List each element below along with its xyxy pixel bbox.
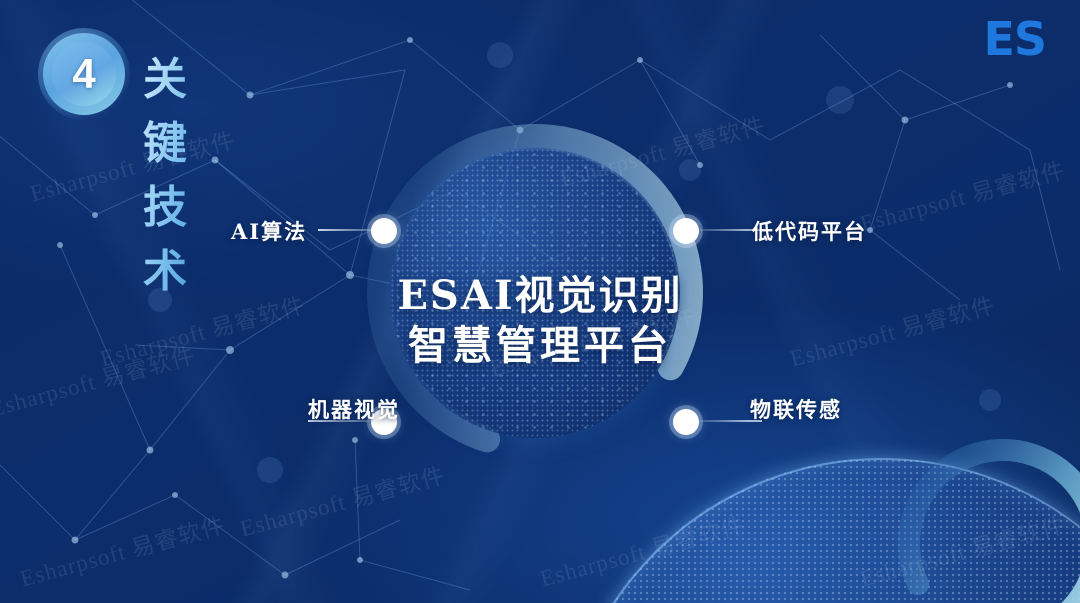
center-title-line1: ESAI视觉识别: [0, 272, 1080, 319]
corner-decorative-ring: [888, 429, 1080, 603]
watermark-text: Esharpsoft 易睿软件: [856, 151, 1069, 238]
watermark-text: Esharpsoft 易睿软件: [26, 121, 239, 208]
section-number-badge: 4: [38, 28, 130, 120]
page-title: 关键技术: [143, 43, 190, 299]
feature-label-iot-sensing[interactable]: 物联传感: [750, 394, 842, 424]
feature-label-low-code[interactable]: 低代码平台: [752, 216, 867, 246]
node-low-code[interactable]: [673, 218, 699, 244]
brand-logo: ES: [983, 12, 1046, 66]
center-title-block: ESAI视觉识别 智慧管理平台: [0, 272, 1080, 373]
badge-number: 4: [38, 28, 130, 120]
center-title-line2: 智慧管理平台: [0, 319, 1080, 373]
node-iot-sensing[interactable]: [673, 409, 699, 435]
slide-canvas: Esharpsoft 易睿软件Esharpsoft 易睿软件Esharpsoft…: [0, 0, 1080, 603]
watermark-text: Esharpsoft 易睿软件: [16, 506, 229, 593]
node-ai-algorithm[interactable]: [371, 218, 397, 244]
watermark-text: Esharpsoft 易睿软件: [236, 456, 449, 543]
